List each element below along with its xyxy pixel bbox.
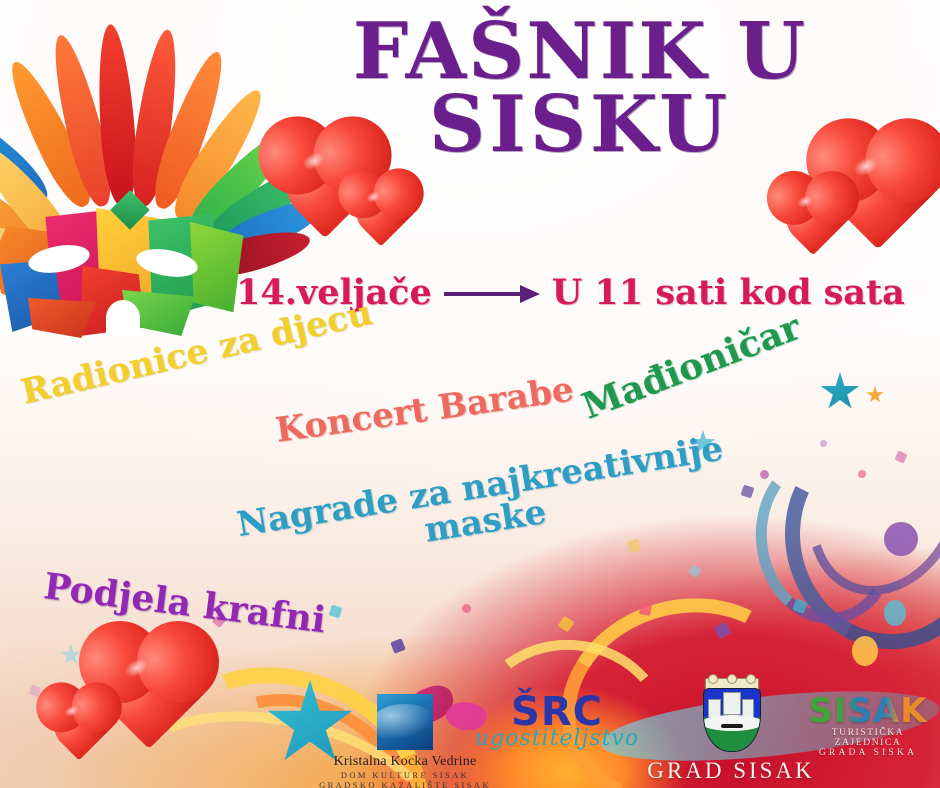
- confetti-icon: [390, 638, 406, 654]
- confetti-icon: [858, 470, 866, 478]
- sisak-coat-of-arms-icon: [699, 676, 763, 754]
- kkv-cube-icon: [377, 694, 433, 750]
- confetti-icon: [884, 600, 906, 626]
- confetti-icon: [688, 564, 702, 578]
- heart-icon: [54, 700, 104, 750]
- kkv-subtitle-2: GRADSKO KAZALIŠTE SISAK: [300, 780, 510, 788]
- confetti-icon: [462, 604, 471, 613]
- confetti-icon: [884, 522, 918, 556]
- confetti-icon: [820, 440, 827, 447]
- star-icon: [820, 372, 860, 412]
- heart-icon: [356, 186, 406, 236]
- tz-subtitle-2: GRADA SISKA: [800, 748, 936, 758]
- confetti-icon: [741, 485, 755, 499]
- arrow-right-icon: [444, 282, 540, 304]
- logo-grad-sisak: GRAD SISAK: [646, 676, 816, 784]
- activity-madionicar: Mađioničar: [577, 309, 805, 426]
- kkv-subtitle-1: DOM KULTURE SISAK: [300, 770, 510, 780]
- heart-icon: [786, 190, 840, 244]
- confetti-icon: [852, 636, 878, 666]
- carnival-poster: FAŠNIK U SISKU 14.veljače U 11 sati kod …: [0, 0, 940, 788]
- confetti-icon: [558, 616, 575, 633]
- kkv-name: Kristalna Kocka Vedrine: [300, 754, 510, 770]
- ribbon-swirl-icon: [757, 404, 940, 675]
- star-icon: [866, 386, 884, 404]
- event-time-place: U 11 sati kod sata: [552, 272, 905, 313]
- confetti-icon: [639, 603, 652, 616]
- logo-turisticka-zajednica-sisak: SISAK TURISTIČKA ZAJEDNICA GRADA SISKA: [800, 694, 936, 758]
- confetti-icon: [760, 470, 769, 479]
- confetti-icon: [714, 622, 732, 640]
- heart-icon: [108, 650, 190, 732]
- confetti-icon: [792, 598, 808, 614]
- ribbon-swirl-icon: [780, 388, 940, 620]
- logo-src-ugostiteljstvo: ŠRC ugostiteljstvo: [472, 692, 642, 751]
- tz-subtitle-1: TURISTIČKA ZAJEDNICA: [800, 728, 936, 748]
- page-title: FAŠNIK U SISKU: [230, 16, 930, 161]
- activity-nagrade-za-maske: Nagrade za najkreativnije maske: [235, 432, 731, 577]
- title-line-2: SISKU: [230, 89, 930, 162]
- src-subtitle: ugostiteljstvo: [472, 726, 642, 751]
- grad-sisak-name: GRAD SISAK: [646, 758, 816, 784]
- ribbon-swirl-icon: [747, 445, 906, 631]
- confetti-icon: [329, 605, 343, 619]
- confetti-icon: [894, 450, 907, 463]
- activity-koncert-barabe: Koncert Barabe: [274, 372, 576, 448]
- tz-name: SISAK: [800, 694, 936, 728]
- confetti-icon: [627, 539, 642, 554]
